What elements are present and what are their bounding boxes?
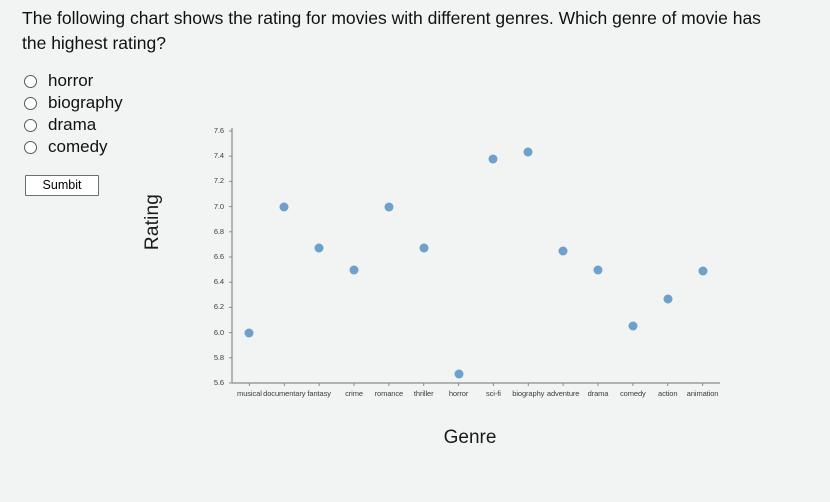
x-tick-label: comedy <box>620 389 646 398</box>
y-tick-label: 7.4 <box>200 151 224 160</box>
data-point <box>698 266 707 275</box>
y-tick-label: 6.0 <box>200 328 224 337</box>
x-tick-label: thriller <box>414 389 434 398</box>
x-tick-label: crime <box>345 389 363 398</box>
y-tick-label: 6.2 <box>200 302 224 311</box>
x-tick-label: biography <box>512 389 544 398</box>
x-tick-label: fantasy <box>307 389 330 398</box>
data-point <box>315 244 324 253</box>
data-point <box>594 265 603 274</box>
data-point <box>350 265 359 274</box>
data-point <box>245 328 254 337</box>
y-tick-label: 7.6 <box>200 126 224 135</box>
x-tick-label: adventure <box>547 389 579 398</box>
x-tick-label: sci-fi <box>486 389 501 398</box>
y-tick-label: 6.6 <box>200 252 224 261</box>
scatter-chart: Rating Genre 5.65.86.06.26.46.66.87.07.2… <box>0 0 830 502</box>
x-tick-label: animation <box>687 389 719 398</box>
y-tick-label: 6.8 <box>200 227 224 236</box>
x-tick-label: musical <box>237 389 262 398</box>
y-tick-label: 5.8 <box>200 353 224 362</box>
data-point <box>384 202 393 211</box>
data-point <box>559 246 568 255</box>
x-tick-label: horror <box>449 389 468 398</box>
data-point <box>628 322 637 331</box>
data-point <box>489 154 498 163</box>
x-tick-label: romance <box>375 389 403 398</box>
data-point <box>524 148 533 157</box>
y-tick-label: 7.0 <box>200 202 224 211</box>
data-point <box>419 244 428 253</box>
chart-canvas <box>0 0 830 502</box>
y-tick-label: 7.2 <box>200 176 224 185</box>
x-tick-label: action <box>658 389 677 398</box>
x-tick-label: drama <box>588 389 609 398</box>
data-point <box>280 202 289 211</box>
y-tick-label: 6.4 <box>200 277 224 286</box>
y-tick-label: 5.6 <box>200 378 224 387</box>
x-tick-label: documentary <box>263 389 305 398</box>
data-point <box>663 294 672 303</box>
data-point <box>454 370 463 379</box>
